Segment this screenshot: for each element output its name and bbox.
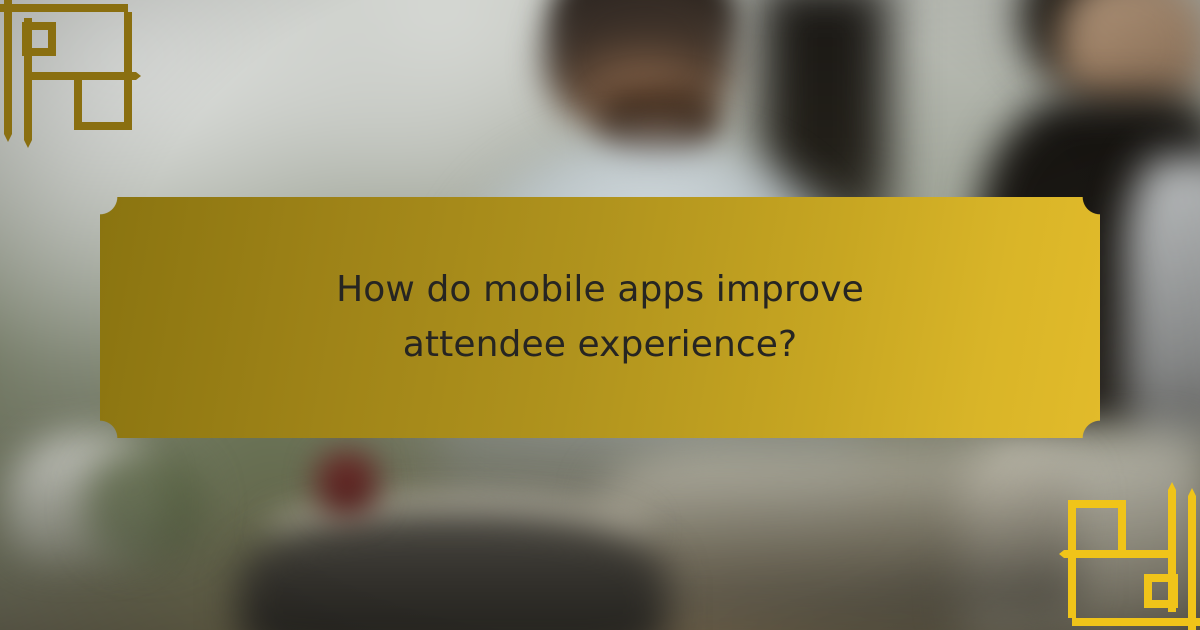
share-card-canvas: How do mobile apps improve attendee expe…: [0, 0, 1200, 630]
page-title: How do mobile apps improve attendee expe…: [270, 263, 930, 372]
headline-banner: How do mobile apps improve attendee expe…: [100, 197, 1100, 438]
corner-ornament-top-left-icon: [0, 0, 160, 160]
corner-ornament-bottom-right-icon: [1040, 470, 1200, 630]
